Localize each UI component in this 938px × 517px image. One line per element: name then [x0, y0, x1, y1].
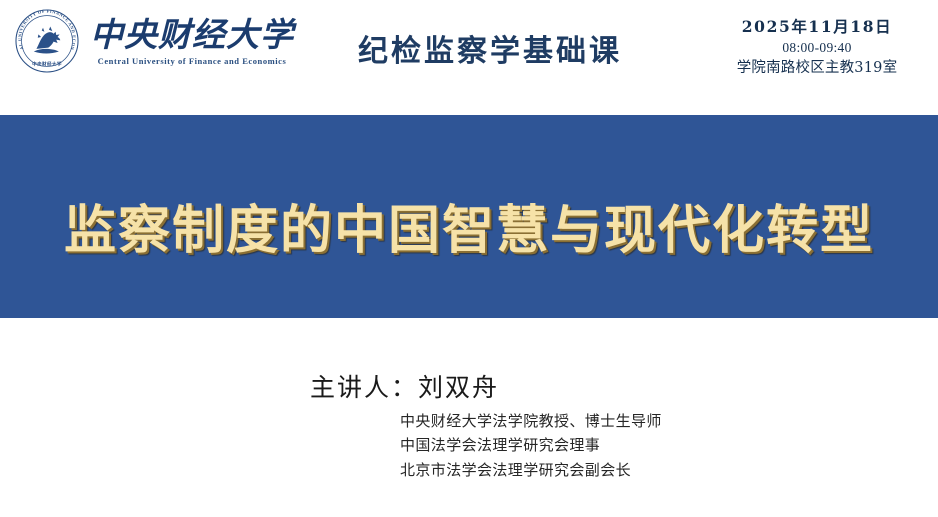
session-location: 学院南路校区主教319室: [712, 58, 922, 79]
course-name: 纪检监察学基础课: [320, 26, 660, 70]
session-date: 2025年11月18日: [712, 17, 922, 38]
presentation-title-slide: CENTRAL UNIVERSITY OF FINANCE AND ECONOM…: [0, 0, 938, 517]
slide-header: CENTRAL UNIVERSITY OF FINANCE AND ECONOM…: [0, 0, 938, 115]
university-name-cn: 中央财经大学: [90, 18, 294, 53]
speaker-credentials: 中央财经大学法学院教授、博士生导师 中国法学会法理学研究会理事 北京市法学会法理…: [400, 409, 662, 482]
credential-line: 北京市法学会法理学研究会副会长: [400, 458, 662, 482]
university-name-en: Central University of Finance and Econom…: [98, 56, 287, 66]
slide-title: 监察制度的中国智慧与现代化转型: [64, 188, 874, 263]
session-time: 08:00-09:40: [712, 38, 922, 58]
university-brand: CENTRAL UNIVERSITY OF FINANCE AND ECONOM…: [14, 8, 294, 74]
university-seal-icon: CENTRAL UNIVERSITY OF FINANCE AND ECONOM…: [14, 8, 80, 74]
university-wordmark: 中央财经大学 Central University of Finance and…: [90, 16, 294, 66]
speaker-name: 主讲人：刘双舟: [310, 368, 499, 404]
credential-line: 中央财经大学法学院教授、博士生导师: [400, 409, 662, 433]
session-info: 2025年11月18日 08:00-09:40 学院南路校区主教319室: [712, 17, 922, 79]
credential-line: 中国法学会法理学研究会理事: [400, 433, 662, 457]
title-banner: 监察制度的中国智慧与现代化转型: [0, 115, 938, 318]
